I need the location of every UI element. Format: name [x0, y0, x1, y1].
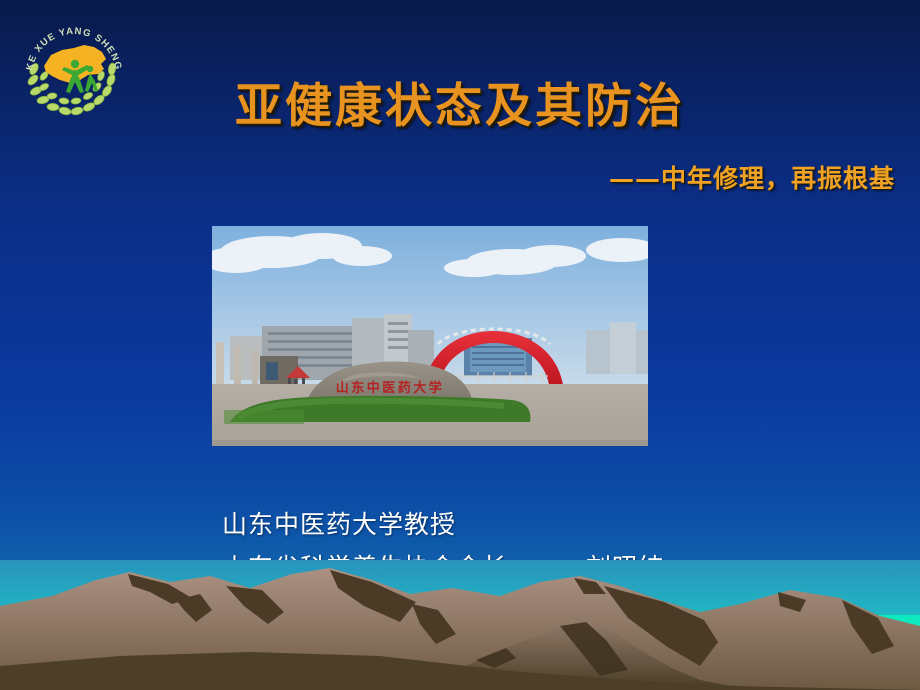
page-title: 亚健康状态及其防治: [0, 82, 920, 132]
gate-pillar: [216, 342, 224, 386]
stone-inscription: 山东中医药大学: [336, 380, 445, 396]
presentation-slide: KE XUE YANG SHENG 亚健康状态及其防治 ——中年修理，再振根基: [0, 0, 920, 690]
page-subtitle: ——中年修理，再振根基: [0, 159, 895, 195]
campus-entrance-photo: 山东中医药大学: [212, 226, 648, 446]
presenter-title-line1: 山东中医药大学教授: [222, 503, 822, 546]
mountain-silhouette-band: [0, 560, 920, 690]
